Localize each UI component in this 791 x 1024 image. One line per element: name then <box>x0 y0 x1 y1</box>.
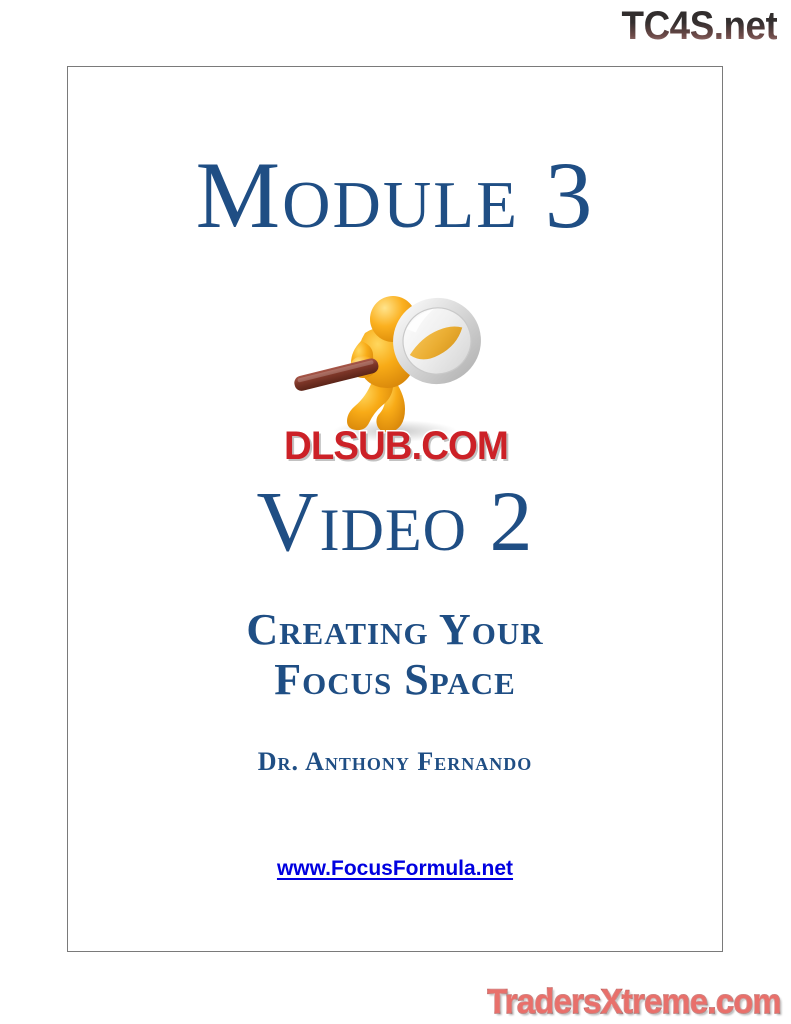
cover-content: Module 3 <box>68 67 722 951</box>
subtitle-line-1: Creating Your <box>68 605 722 655</box>
tc4s-watermark: TC4S.net <box>621 4 777 48</box>
video-number-title: Video 2 <box>68 475 722 567</box>
dlsub-watermark-text: DLSUB.COM <box>284 424 508 468</box>
author-name: Dr. Anthony Fernando <box>68 747 722 777</box>
document-cover-page: TC4S.net Module 3 <box>0 0 791 1024</box>
website-link-container: www.FocusFormula.net <box>68 857 722 881</box>
tradersxtreme-watermark: TradersXtreme.com <box>487 982 781 1022</box>
website-link[interactable]: www.FocusFormula.net <box>277 857 513 880</box>
cover-frame: Module 3 <box>67 66 723 952</box>
dlsub-watermark: DLSUB.COM <box>268 424 523 468</box>
cover-subtitle: Creating Your Focus Space <box>68 605 722 705</box>
page-title: Module 3 <box>68 145 722 245</box>
subtitle-line-2: Focus Space <box>68 655 722 705</box>
